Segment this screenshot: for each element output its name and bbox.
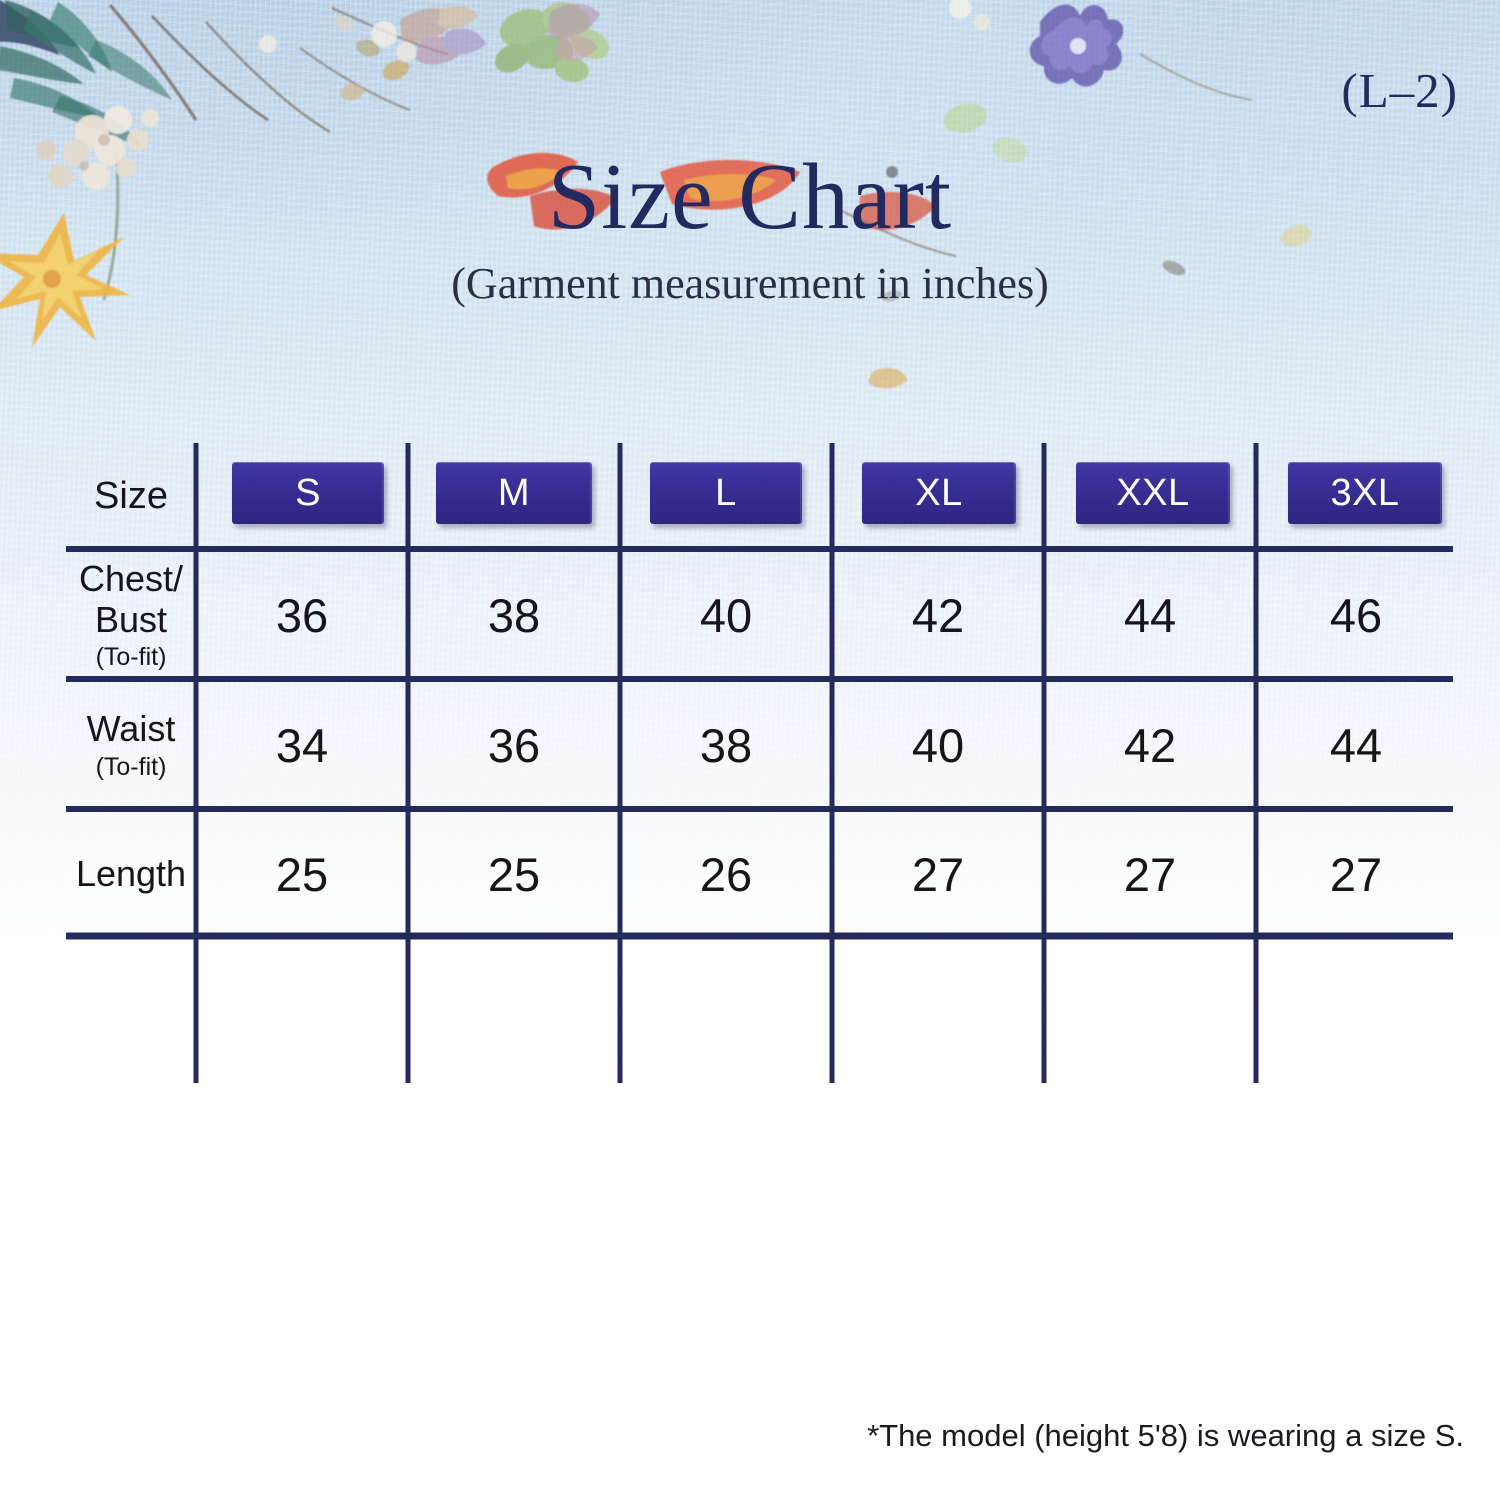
cell-length-s: 25: [196, 812, 408, 936]
row-label-subtext: (To-fit): [96, 753, 167, 781]
cell-chest-s: 36: [196, 552, 408, 678]
cell-chest-xl: 42: [832, 552, 1044, 678]
cell-chest-xxl: 44: [1044, 552, 1256, 678]
size-badge-xl[interactable]: XL: [862, 462, 1016, 524]
cell-length-m: 25: [408, 812, 620, 936]
cell-waist-s: 34: [196, 682, 408, 808]
size-header-label: Size: [66, 462, 196, 530]
model-footnote: *The model (height 5'8) is wearing a siz…: [867, 1418, 1464, 1454]
cell-length-3xl: 27: [1256, 812, 1456, 936]
cell-length-l: 26: [620, 812, 832, 936]
size-badge-l[interactable]: L: [650, 462, 802, 524]
row-label-length: Length: [66, 812, 196, 936]
row-label-line1: Chest/: [79, 559, 183, 599]
cell-waist-l: 38: [620, 682, 832, 808]
cell-length-xxl: 27: [1044, 812, 1256, 936]
row-label-line1: Length: [76, 854, 186, 894]
cell-chest-l: 40: [620, 552, 832, 678]
cell-waist-m: 36: [408, 682, 620, 808]
size-badge-m[interactable]: M: [436, 462, 592, 524]
cell-waist-xxl: 42: [1044, 682, 1256, 808]
size-badge-xxl[interactable]: XXL: [1076, 462, 1230, 524]
cell-chest-m: 38: [408, 552, 620, 678]
cell-waist-3xl: 44: [1256, 682, 1456, 808]
size-badge-s[interactable]: S: [232, 462, 384, 524]
cell-waist-xl: 40: [832, 682, 1044, 808]
row-label-chest-bust: Chest/ Bust (To-fit): [66, 552, 196, 678]
cell-length-xl: 27: [832, 812, 1044, 936]
row-label-line1: Waist: [87, 709, 176, 749]
row-label-waist: Waist (To-fit): [66, 682, 196, 808]
size-badge-3xl[interactable]: 3XL: [1288, 462, 1442, 524]
row-label-line2: Bust: [95, 600, 167, 640]
row-label-subtext: (To-fit): [96, 643, 167, 671]
cell-chest-3xl: 46: [1256, 552, 1456, 678]
